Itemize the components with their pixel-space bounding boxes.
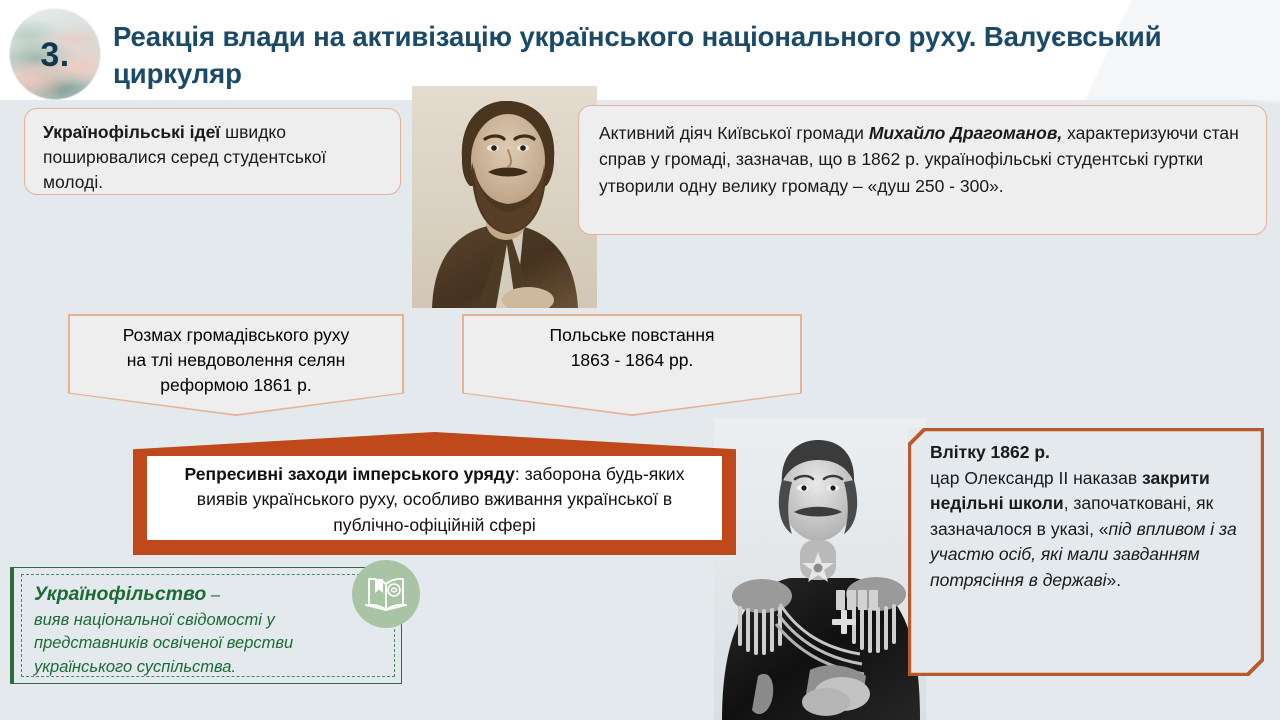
- tsar-order-text: Влітку 1862 р.цар Олександр II наказав з…: [930, 440, 1248, 593]
- definition-term: Українофільство: [34, 583, 206, 605]
- tsar-order-quote-open: «: [1099, 519, 1109, 539]
- polish-uprising-text: Польське повстання 1863 - 1864 рр.: [462, 323, 802, 373]
- drahomanov-name: Михайло Драгоманов,: [869, 123, 1062, 143]
- definition-text: Українофільство – вияв національної свід…: [34, 581, 374, 679]
- drahomanov-quote-text: Активний діяч Київської громади Михайло …: [599, 120, 1248, 199]
- open-book-icon: [352, 560, 420, 628]
- hromada-movement-card: Розмах громадівського руху на тлі невдов…: [68, 314, 404, 416]
- tsar-order-line2: цар Олександр II наказав: [930, 468, 1142, 488]
- polish-uprising-card: Польське повстання 1863 - 1864 рр.: [462, 314, 802, 416]
- definition-body: вияв національної свідомості у представн…: [34, 611, 293, 676]
- repressive-measures-text: Репресивні заходи імперського уряду: заб…: [161, 462, 708, 538]
- repressive-measures-bold-lead: Репресивні заходи імперського уряду: [185, 464, 515, 484]
- tsar-order-bold-lead: Влітку 1862 р.: [930, 442, 1050, 462]
- definition-card: Українофільство – вияв національної свід…: [10, 567, 402, 684]
- page-title: Реакція влади на активізацію українськог…: [113, 18, 1233, 93]
- drahomanov-portrait-image: [412, 86, 597, 308]
- slide-canvas: 3. Реакція влади на активізацію українсь…: [0, 0, 1280, 720]
- ukrainophile-ideas-text: Українофільські ідеї швидко поширювалися…: [43, 120, 384, 195]
- slide-number-badge: 3.: [9, 8, 101, 100]
- slide-number-text: 3.: [9, 36, 101, 75]
- ukrainophile-ideas-card: Українофільські ідеї швидко поширювалися…: [24, 108, 401, 195]
- hromada-movement-text: Розмах громадівського руху на тлі невдов…: [68, 323, 404, 399]
- tsar-alexander-portrait-image: [714, 418, 926, 720]
- tsar-order-quote-close: ».: [1106, 570, 1121, 590]
- drahomanov-quote-part1: Активний діяч Київської громади: [599, 123, 869, 143]
- drahomanov-quote-card: Активний діяч Київської громади Михайло …: [578, 105, 1267, 235]
- tsar-order-card: Влітку 1862 р.цар Олександр II наказав з…: [908, 428, 1264, 676]
- repressive-measures-card: Репресивні заходи імперського уряду: заб…: [147, 456, 722, 540]
- definition-dash: –: [206, 586, 220, 604]
- ukrainophile-ideas-bold-lead: Українофільські ідеї: [43, 122, 220, 142]
